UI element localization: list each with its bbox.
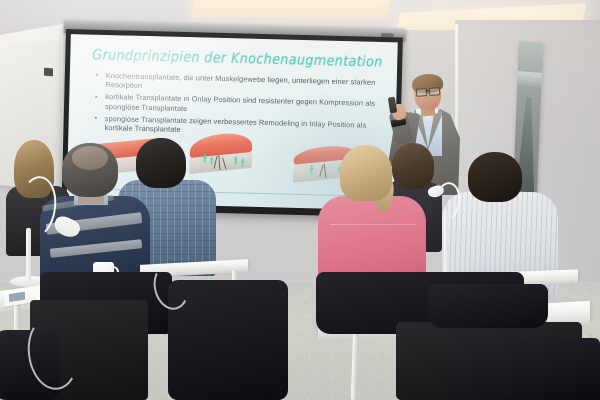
conference-room-photo: Grundprinzipien der Knochenaugmentation …	[0, 0, 600, 400]
remodeling-arrow	[234, 155, 238, 160]
attendee-head	[136, 138, 186, 188]
attendee-hair	[340, 145, 392, 201]
remodeling-arrow	[210, 156, 214, 161]
paper-image-block	[9, 292, 25, 302]
chair-foreground-right[interactable]	[448, 338, 600, 400]
ceiling-light-panel-1	[191, 0, 391, 17]
slide-title: Grundprinzipien der Knochenaugmentation	[92, 46, 383, 70]
lamp-stem	[26, 228, 31, 282]
sweater-stripe	[50, 239, 142, 258]
remodeling-arrow	[310, 164, 314, 169]
remodeling-arrow	[203, 154, 207, 159]
attendee-scalp	[72, 146, 108, 170]
whiteboard-clip-icon	[44, 68, 53, 77]
remodeling-arrow	[241, 157, 245, 162]
attendee-head	[392, 143, 434, 189]
jacket-over-chair-far-right	[428, 284, 548, 328]
attendee-head	[468, 152, 522, 202]
presenter-glasses-icon	[416, 87, 440, 95]
lamp-stem	[444, 210, 448, 276]
